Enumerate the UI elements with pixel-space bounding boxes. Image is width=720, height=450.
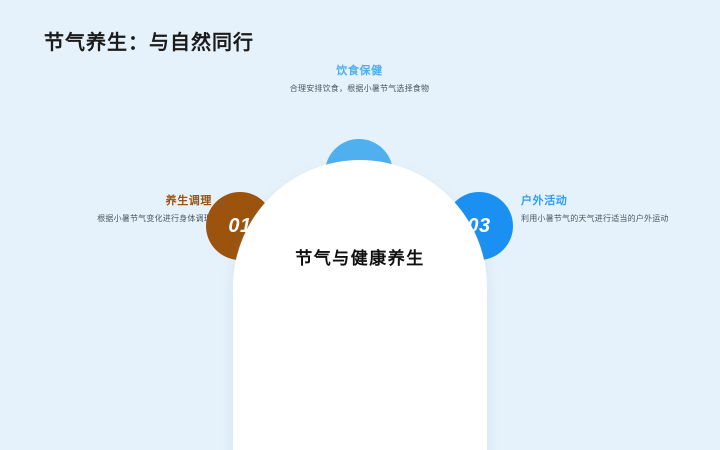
semicircle-diagram: 01 02 03 节气与健康养生 养生调理 根据小暑节气变化进行身体调理 饮食保… bbox=[0, 0, 720, 404]
node-description-03: 利用小暑节气的天气进行适当的户外运动 bbox=[521, 213, 689, 225]
node-description-02: 合理安排饮食，根据小暑节气选择食物 bbox=[272, 83, 447, 95]
node-heading-01: 养生调理 bbox=[40, 192, 212, 208]
node-description-01: 根据小暑节气变化进行身体调理 bbox=[40, 213, 212, 225]
node-text-01: 养生调理 根据小暑节气变化进行身体调理 bbox=[40, 192, 212, 225]
node-heading-02: 饮食保健 bbox=[272, 62, 447, 78]
node-text-03: 户外活动 利用小暑节气的天气进行适当的户外运动 bbox=[521, 192, 689, 225]
node-heading-03: 户外活动 bbox=[521, 192, 689, 208]
center-label: 节气与健康养生 bbox=[233, 244, 487, 269]
slide-canvas: 节气养生：与自然同行 01 02 03 节气与健康养生 养生调理 根据小暑节气变… bbox=[0, 0, 720, 404]
node-text-02: 饮食保健 合理安排饮食，根据小暑节气选择食物 bbox=[272, 62, 447, 95]
center-dome-shape: 节气与健康养生 bbox=[233, 160, 487, 450]
